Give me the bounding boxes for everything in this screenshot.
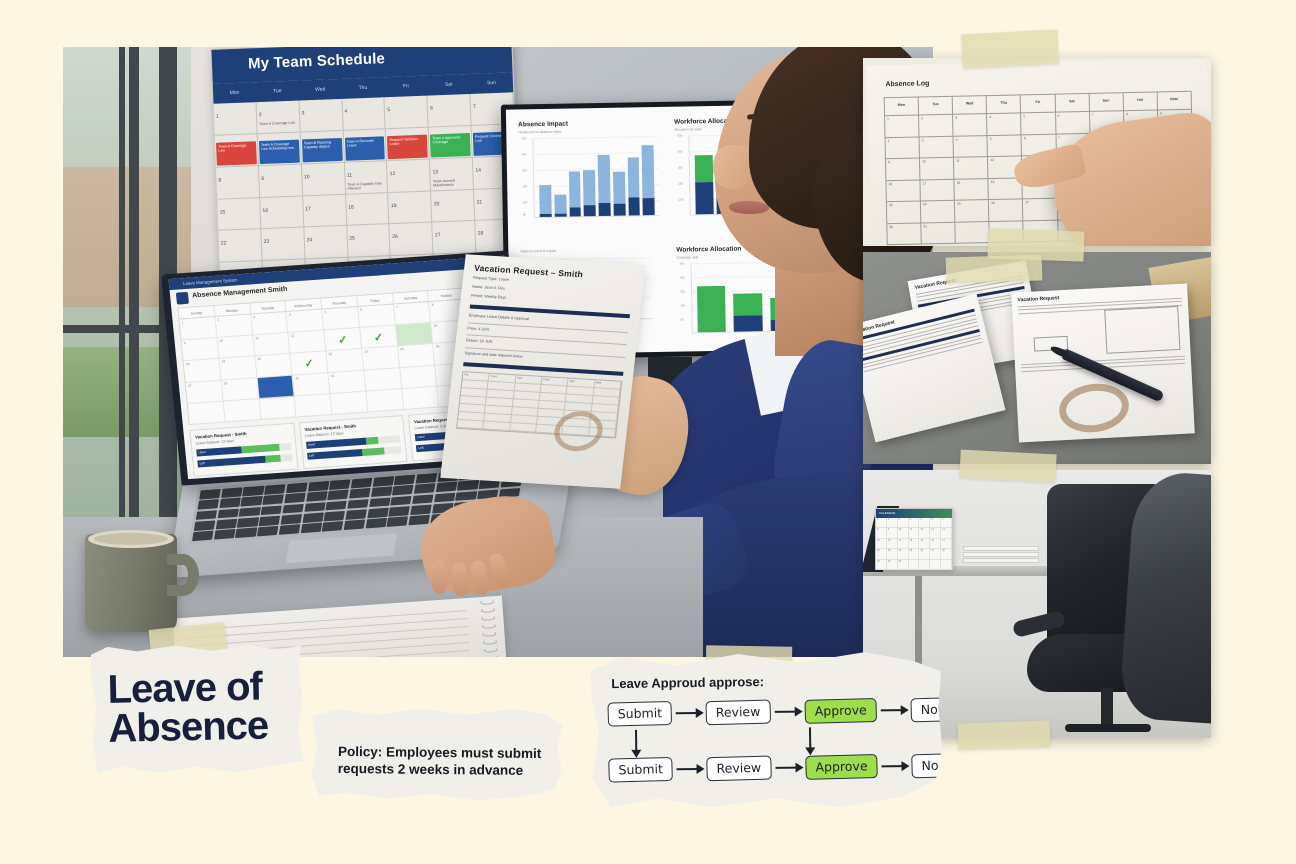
policy-note: Policy: Employees must submit requests 2…	[312, 703, 563, 802]
calendar-cell: 3	[299, 99, 343, 132]
calendar-cell: 23	[261, 228, 305, 261]
bar-label: Used	[308, 442, 315, 446]
app-icon	[176, 292, 189, 305]
calendar-event: Team A Coverage Low Scheduling now	[259, 139, 300, 163]
tape-strip	[961, 30, 1059, 69]
calendar-cell: 11	[954, 157, 989, 179]
calendar-cell: 3	[953, 114, 988, 136]
calendar-cell: 22	[218, 229, 262, 262]
calendar-cell: 1	[885, 115, 920, 137]
progress-bar: Left	[197, 454, 292, 468]
y-tick: 20k	[522, 184, 527, 188]
flow-step-submit[interactable]: Submit	[607, 701, 672, 727]
bar-label: Left	[199, 461, 204, 465]
calendar-cell: 10	[920, 158, 955, 180]
arrow-right-icon	[673, 763, 707, 775]
vacation-request-paper-form: Vacation Request – Smith Request Type: L…	[440, 254, 645, 489]
y-tick: 0k	[523, 212, 526, 216]
bar-label: Used	[198, 450, 205, 454]
calendar-cell: 8	[216, 166, 260, 199]
desk-calendar-title: CALENDAR	[876, 509, 952, 518]
tape-strip	[946, 254, 1043, 283]
day-header: Tue	[256, 81, 300, 103]
calendar-cell[interactable]: 10	[217, 336, 255, 360]
check-icon: ✓	[337, 333, 347, 347]
calendar-cell[interactable]: 28	[221, 378, 259, 402]
bar-label: Used	[417, 435, 424, 439]
calendar-cell[interactable]: 30	[293, 373, 331, 397]
calendar-cell[interactable]	[400, 365, 438, 389]
leave-request-card[interactable]: Vacation Request - Smith Leave Balance: …	[299, 415, 408, 469]
calendar-cell: 2Team A Coverage Low	[256, 101, 300, 134]
desk-calendar-grid: 1234567 891011121314 15161718192021 2223…	[876, 518, 952, 570]
calendar-cell[interactable]	[331, 391, 369, 415]
calendar-cell: 9	[886, 158, 921, 180]
calendar-cell: Team A Coverage Low Scheduling now	[258, 132, 302, 165]
calendar-cell: 17	[303, 194, 347, 227]
calendar-cell[interactable]: 23	[362, 347, 400, 371]
calendar-cell: 13Team Unused Maintenance	[430, 158, 474, 191]
arrow-right-icon	[672, 707, 706, 719]
calendar-cell: 4	[954, 136, 989, 158]
calendar-cell: 18	[346, 193, 390, 226]
calendar-cell: 15	[217, 198, 261, 231]
calendar-cell	[956, 222, 991, 244]
window-mullion	[129, 47, 139, 517]
calendar-cell: Request Vacation Leave	[386, 127, 430, 160]
calendar-cell: 2	[919, 115, 954, 137]
calendar-cell: 6	[428, 94, 472, 127]
paper-calendar-title: Absence Log	[885, 80, 929, 88]
day-header: Wed	[298, 79, 342, 101]
day-header: Thu	[341, 77, 385, 99]
flow-step-review[interactable]: Review	[707, 756, 772, 782]
leave-request-card[interactable]: Vacation Request - Smith Leave Balance: …	[189, 423, 298, 477]
mug-handle	[167, 554, 199, 596]
calendar-cell: 30	[887, 223, 922, 245]
laptop-trackpad[interactable]	[286, 533, 398, 563]
arrow-right-icon	[877, 760, 911, 772]
collage-page: My Team Schedule Mon Tue Wed Thu Fri Sat…	[0, 0, 1296, 864]
calendar-cell: 5	[385, 96, 429, 129]
page-title: Leave of Absence	[107, 668, 268, 749]
flow-step-submit[interactable]: Submit	[608, 757, 673, 783]
table-cell	[510, 423, 537, 433]
calendar-cell: 18	[955, 179, 990, 201]
calendar-cell[interactable]	[295, 394, 333, 418]
calendar-cell: 26	[390, 223, 434, 256]
calendar-cell: 10	[302, 162, 346, 195]
calendar-cell: 20	[431, 189, 475, 222]
flow-step-notify[interactable]: Notify	[911, 753, 969, 778]
calendar-cell: 25	[347, 224, 391, 257]
calendar-cell[interactable]	[364, 368, 402, 392]
calendar-cell: Team A Coverage Low	[215, 134, 259, 167]
calendar-cell: 6	[1056, 112, 1091, 134]
calendar-cell[interactable]: 11	[253, 333, 291, 357]
calendar-cell: 1	[214, 102, 258, 135]
calendar-cell: 24	[921, 201, 956, 223]
calendar-cell-selected[interactable]	[257, 375, 295, 399]
paper-calendar-bg: Absence Log Mon Tue Wed Thu Fri Sat Sun …	[863, 58, 1211, 246]
calendar-event: Team A Recruiter Leave	[344, 136, 385, 160]
calendar-cell: 31	[921, 222, 956, 244]
headline-note: Leave of Absence	[91, 643, 304, 775]
calendar-cell: Team A Approved Coverage	[429, 126, 473, 159]
bar	[598, 155, 611, 216]
calendar-cell[interactable]: 31	[328, 370, 366, 394]
main-office-photo: My Team Schedule Mon Tue Wed Thu Fri Sat…	[63, 47, 933, 657]
notebook-spiral	[480, 591, 500, 657]
calendar-cell: 17	[921, 179, 956, 201]
window-mullion	[119, 47, 125, 517]
window-rail	[63, 325, 159, 333]
chart-axis-note: Headcount vs absence days	[518, 128, 658, 134]
calendar-cell[interactable]: 12	[289, 331, 327, 355]
check-icon: ✓	[373, 331, 383, 345]
day-header: Sun	[470, 72, 514, 94]
bar	[583, 170, 596, 216]
flow-step-review[interactable]: Review	[706, 700, 771, 726]
day-header: Sat	[427, 74, 471, 96]
flow-step-approve[interactable]: Approve	[805, 754, 878, 780]
calendar-cell: Team B Planning Capacity dipped	[300, 131, 344, 164]
calendar-cell: 16	[886, 180, 921, 202]
day-header: Mon	[213, 82, 257, 104]
chart-title: Absence Impact	[518, 119, 658, 128]
arrow-right-icon	[877, 704, 911, 716]
desk-calendar: CALENDAR 1234567 891011121314 1516171819…	[875, 508, 953, 570]
table-cell	[483, 422, 510, 432]
calendar-cell: 12	[387, 159, 431, 192]
calendar-cell[interactable]	[402, 386, 440, 410]
tape-strip	[959, 450, 1056, 483]
calendar-cell: 27	[1023, 199, 1058, 221]
calendar-cell: 27	[433, 221, 477, 254]
chair-base	[1065, 724, 1151, 732]
policy-text: Policy: Employees must submit requests 2…	[338, 743, 546, 780]
bar	[642, 145, 655, 215]
bar	[613, 172, 626, 216]
calendar-cell[interactable]	[188, 401, 226, 425]
day-header: Wed	[953, 96, 987, 115]
calendar-cell: 4	[987, 113, 1022, 135]
calendar-cell[interactable]: 9	[182, 338, 220, 362]
calendar-cell[interactable]	[223, 399, 261, 423]
table-cell	[457, 420, 484, 430]
chair-gas-lift	[1101, 688, 1113, 728]
tape-strip	[958, 720, 1051, 749]
bar	[627, 157, 640, 215]
y-tick: 10k	[522, 200, 527, 204]
progress-bar: Left	[307, 446, 402, 460]
day-header: Fri	[384, 76, 428, 98]
title-line-2: Absence	[108, 703, 269, 750]
calendar-event: Request Vacation Leave	[387, 134, 428, 158]
bar	[554, 195, 566, 217]
bar	[568, 171, 581, 216]
nose	[713, 145, 753, 189]
y-tick: 30k	[522, 168, 527, 172]
calendar-event: Team A Coverage Low	[216, 141, 257, 165]
panel-scattered-forms: Vacation Request Vacation Request Vacati…	[863, 252, 1211, 464]
mug-interior	[94, 533, 168, 545]
arrow-right-icon	[771, 705, 805, 717]
calendar-cell[interactable]	[366, 389, 404, 413]
calendar-cell: 25	[955, 200, 990, 222]
cell-note: Team A Coverage Low	[259, 121, 297, 127]
calendar-cell[interactable]: 3	[251, 312, 289, 336]
calendar-cell: 9	[259, 164, 303, 197]
calendar-cell[interactable]: 24	[398, 344, 436, 368]
check-icon: ✓	[304, 357, 314, 371]
calendar-cell[interactable]: 27	[186, 380, 224, 404]
calendar-cell[interactable]: 4	[287, 309, 325, 333]
day-header: Hol	[1123, 93, 1157, 112]
calendar-cell[interactable]: 5	[322, 307, 360, 331]
day-header: Mon	[885, 98, 919, 117]
calendar-cell: 4	[342, 97, 386, 130]
calendar-cell: 19	[388, 191, 432, 224]
calendar-cell-approved[interactable]: ✓	[360, 326, 398, 350]
day-header: Note	[1158, 92, 1192, 111]
day-header: Fri	[1021, 95, 1055, 114]
calendar-cell[interactable]: 7	[394, 302, 432, 326]
calendar-cell[interactable]: 1	[179, 317, 217, 341]
y-tick: 40k	[522, 152, 527, 156]
flowchart-note: Leave Approud approse: Submit Review App…	[591, 650, 943, 811]
calendar-cell-approved[interactable]: ✓	[324, 328, 362, 352]
day-header: Sun	[1089, 93, 1123, 112]
calendar-cell-approved[interactable]	[396, 323, 434, 347]
bar-label: Left	[309, 453, 314, 457]
office-chair	[1009, 476, 1211, 738]
calendar-cell[interactable]: 2	[215, 314, 253, 338]
flow-step-approve[interactable]: Approve	[804, 698, 877, 724]
calendar-cell: 5	[1021, 113, 1056, 135]
day-header: Tue	[919, 97, 953, 116]
calendar-cell: 5	[988, 135, 1023, 157]
calendar-cell: 24	[304, 226, 348, 259]
flowchart-row-1: Submit Review Approve Notify	[608, 697, 968, 726]
flowchart-row-2: Submit Review Approve Notify	[608, 753, 968, 782]
arrow-right-icon	[771, 761, 805, 773]
bar	[539, 185, 551, 217]
flowchart-title: Leave Approud approse:	[611, 674, 764, 691]
day-header: Sat	[1055, 94, 1089, 113]
y-tick: 50k	[521, 136, 526, 140]
bar-label: Left	[418, 446, 423, 450]
calendar-cell[interactable]: 18	[184, 359, 222, 383]
calendar-cell[interactable]: 6	[358, 304, 396, 328]
cell-note: Team Unused Maintenance	[433, 178, 471, 188]
lips	[729, 201, 769, 214]
bar-series-group	[535, 136, 657, 217]
calendar-event: Team A Approved Coverage	[430, 133, 471, 157]
laptop-app-title: Absence Management Smith	[192, 286, 288, 300]
calendar-cell[interactable]: 20	[255, 354, 293, 378]
calendar-cell: 16	[260, 196, 304, 229]
calendar-cell[interactable]	[259, 396, 297, 420]
chart-axis-note: Absence trend & impact	[520, 247, 650, 253]
calendar-cell: 2	[886, 137, 921, 159]
calendar-cell: 3	[920, 136, 955, 158]
calendar-cell: 26	[989, 199, 1024, 221]
coffee-mug	[85, 534, 177, 632]
calendar-cell[interactable]: 22	[326, 349, 364, 373]
calendar-cell: Team A Recruiter Leave	[343, 129, 387, 162]
calendar-cell[interactable]: 19	[219, 357, 257, 381]
calendar-cell: 23	[887, 201, 922, 223]
chart-absence-impact: Absence Impact Headcount vs absence days…	[518, 119, 660, 233]
day-header: Thu	[987, 95, 1021, 114]
calendar-cell: 11Team A Capacity note Planned	[344, 161, 388, 194]
panel-paper-calendar: Absence Log Mon Tue Wed Thu Fri Sat Sun …	[863, 58, 1211, 246]
calendar-cell-approved[interactable]: ✓	[291, 352, 329, 376]
cell-note: Team A Capacity note Planned	[347, 181, 385, 191]
calendar-event: Team B Planning Capacity dipped	[302, 138, 343, 162]
